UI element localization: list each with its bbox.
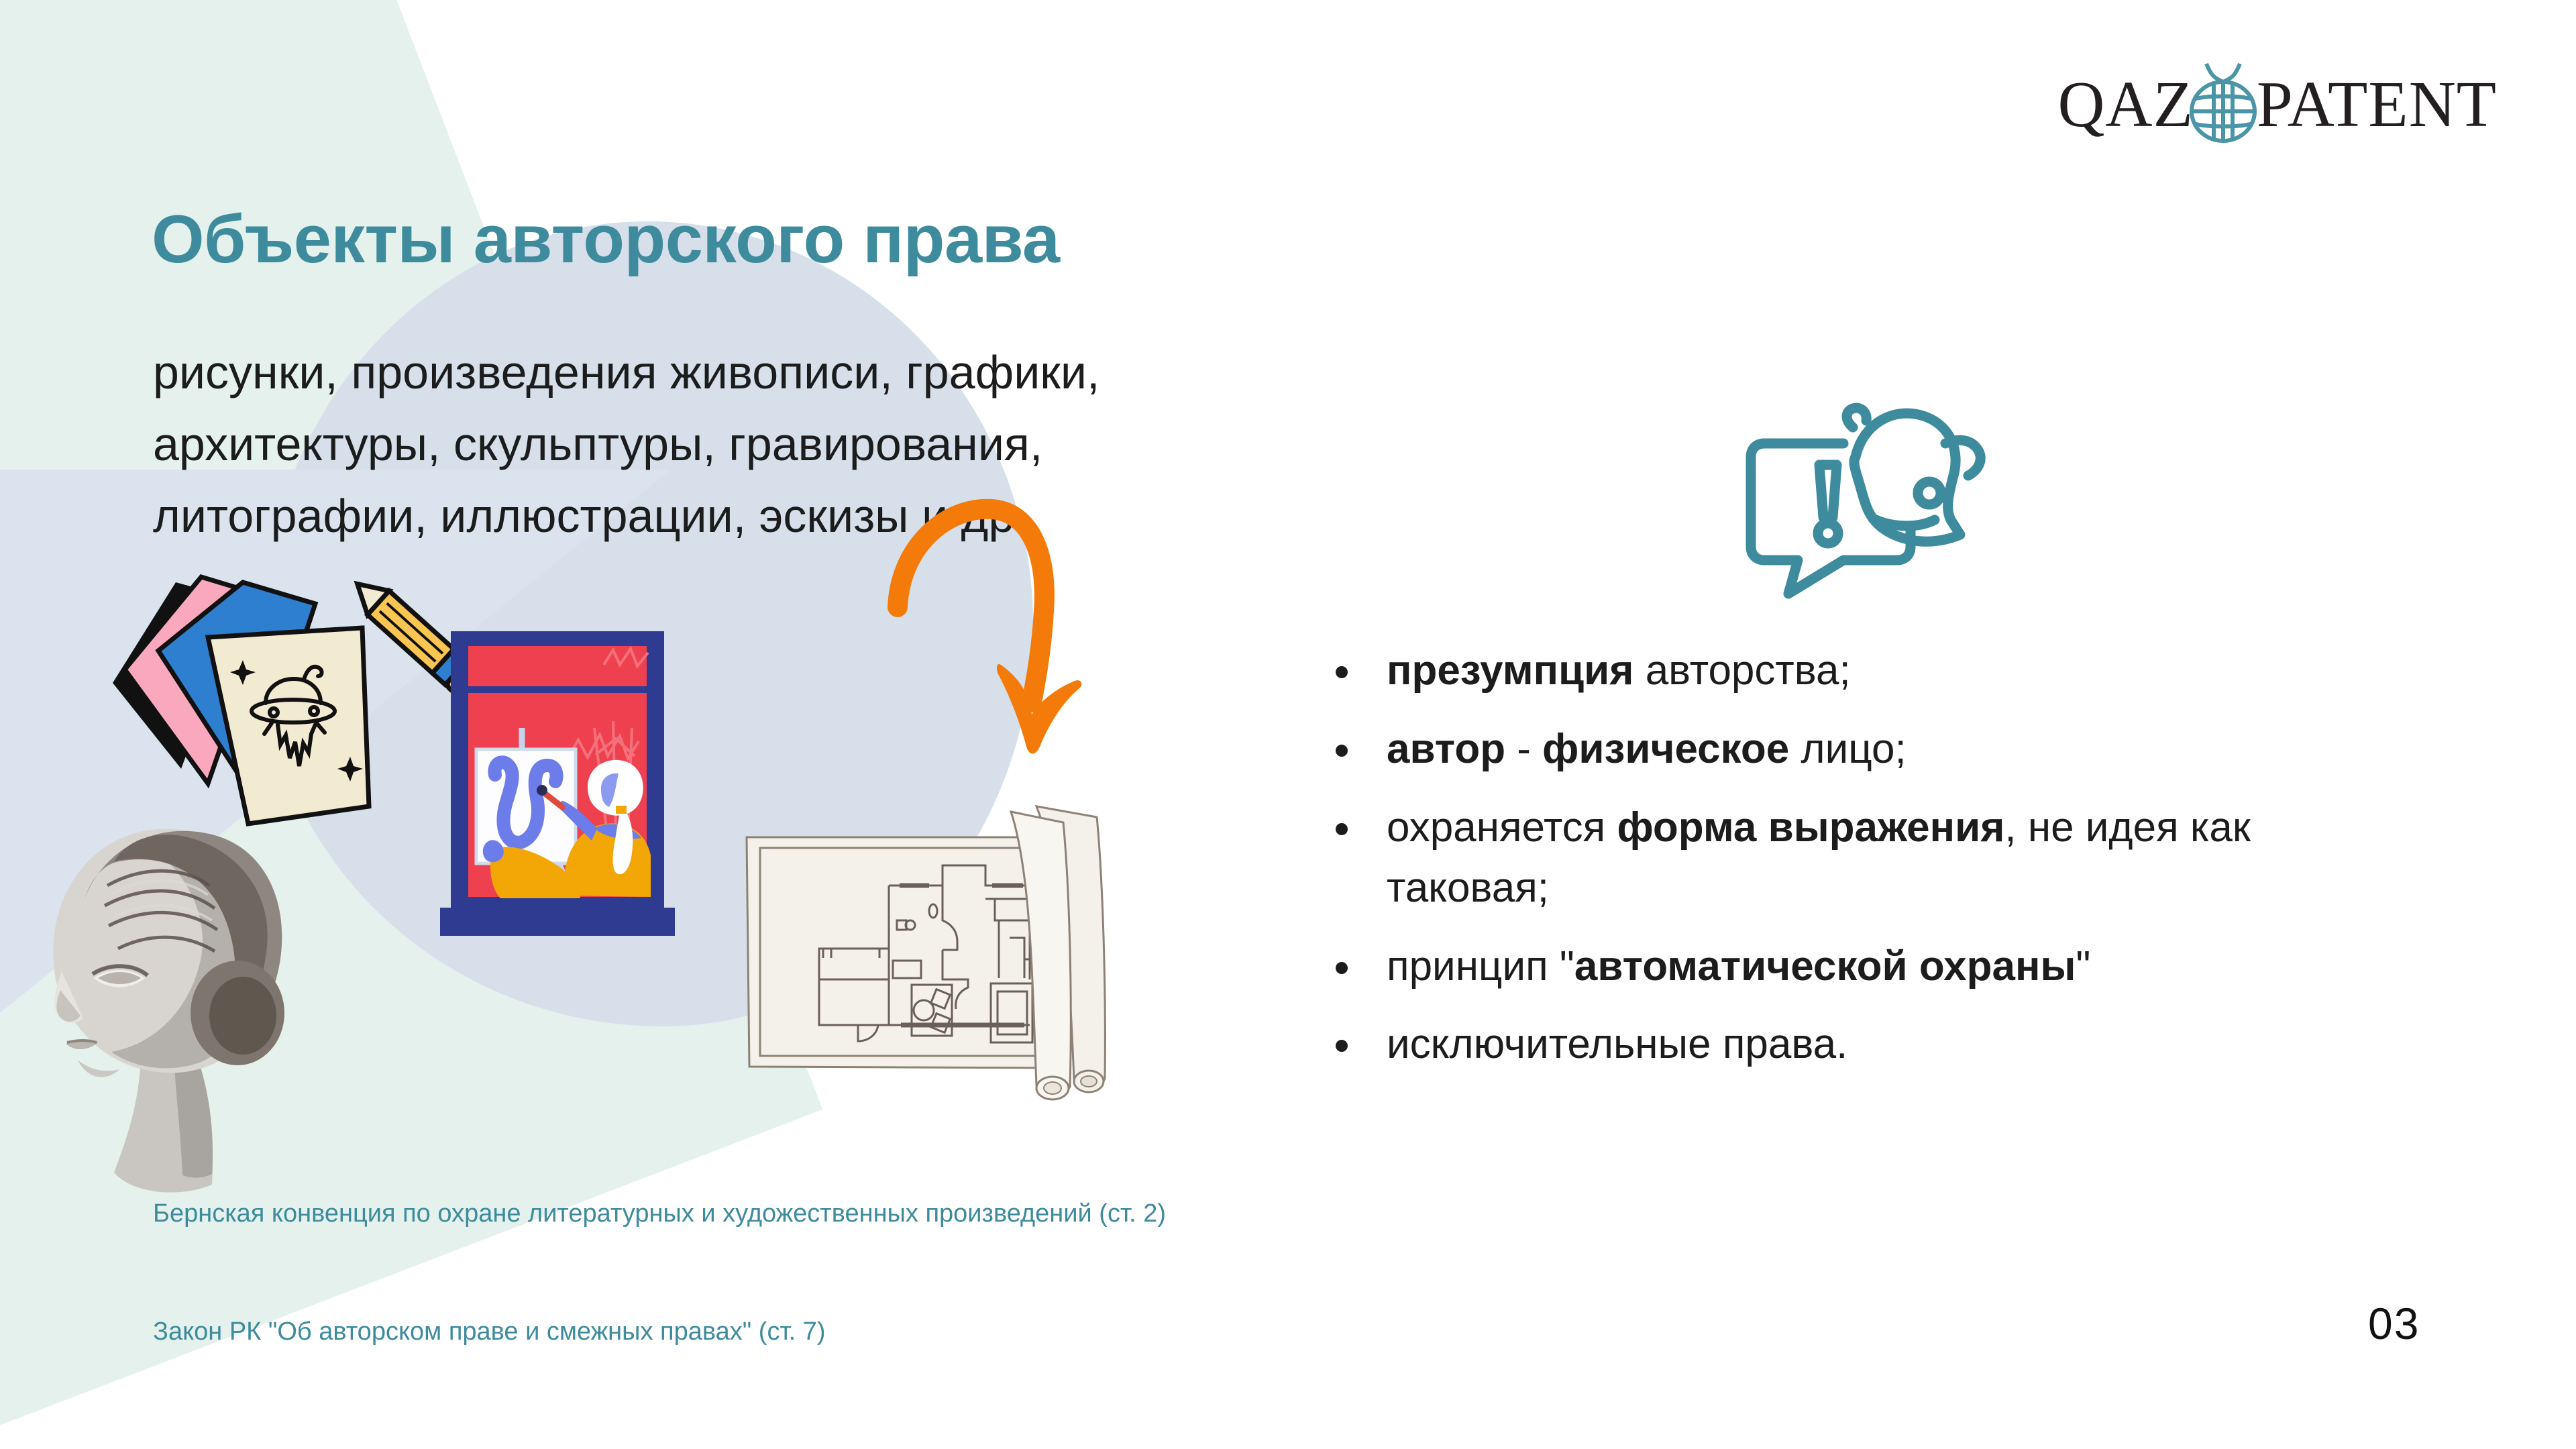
artist-painting-window-illustration bbox=[436, 627, 704, 966]
page-number: 03 bbox=[2368, 1298, 2420, 1349]
list-item-emphasis: презумпция bbox=[1387, 647, 1646, 694]
key-points-list: презумпция авторства;автор - физическое … bbox=[1332, 641, 2378, 1093]
list-item-emphasis: физическое bbox=[1542, 726, 1801, 772]
list-item: автор - физическое лицо; bbox=[1332, 719, 2378, 780]
list-item-emphasis: автор bbox=[1387, 726, 1517, 772]
footnote-kazakhstan-law: Закон РК "Об авторском праве и смежных п… bbox=[153, 1315, 1360, 1349]
list-item: исключительные права. bbox=[1332, 1014, 2378, 1075]
footnote-berne-convention: Бернская конвенция по охране литературны… bbox=[153, 1197, 1360, 1231]
list-item: презумпция авторства; bbox=[1332, 641, 2378, 701]
architectural-floor-plan-illustration bbox=[721, 778, 1137, 1137]
list-item: принцип "автоматической охраны" bbox=[1332, 936, 2378, 997]
list-item-emphasis: форма выражения bbox=[1617, 804, 2004, 851]
speech-bubble-bell-alert-icon bbox=[1724, 386, 1992, 624]
list-item-text: авторства; bbox=[1646, 647, 1851, 694]
classical-marble-bust-illustration bbox=[13, 792, 389, 1211]
qazpatent-oval-ornament-icon bbox=[2184, 60, 2262, 148]
list-item-text: исключительные права. bbox=[1387, 1021, 1847, 1067]
qazpatent-logo: QAZ PATENT bbox=[2057, 64, 2497, 144]
list-item-text: " bbox=[2076, 943, 2090, 989]
list-item: охраняется форма выражения, не идея как … bbox=[1332, 798, 2378, 918]
list-item-text: охраняется bbox=[1387, 804, 1617, 851]
logo-text-right: PATENT bbox=[2257, 72, 2497, 137]
list-item-emphasis: автоматической охраны bbox=[1574, 943, 2076, 989]
logo-text-left: QAZ bbox=[2057, 72, 2193, 137]
list-item-text: лицо; bbox=[1801, 726, 1906, 772]
curved-down-arrow-icon bbox=[872, 493, 1114, 765]
slide-title: Объекты авторского права bbox=[152, 201, 1060, 278]
presentation-slide: QAZ PATENT Объекты авторского права рису… bbox=[0, 0, 2576, 1449]
list-item-text: принцип " bbox=[1387, 943, 1574, 989]
list-item-text: - bbox=[1517, 726, 1542, 772]
